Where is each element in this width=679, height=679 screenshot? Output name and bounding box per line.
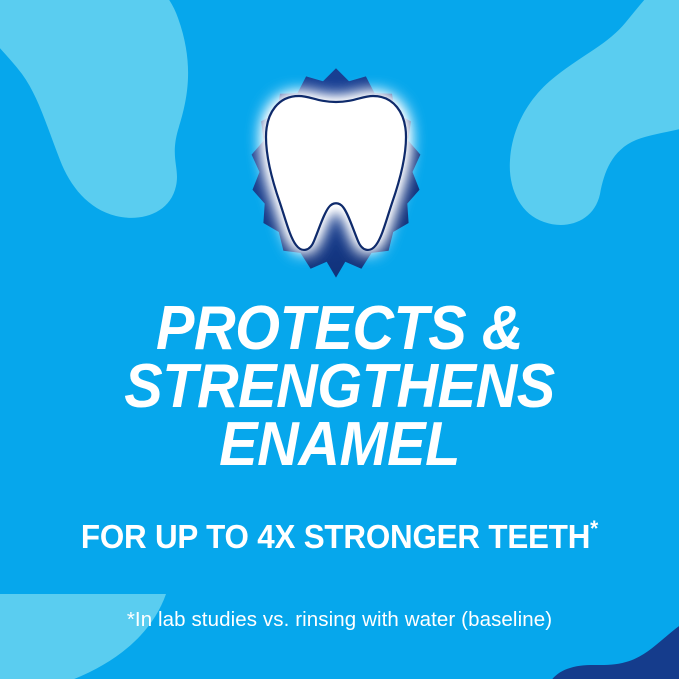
footnote-disclaimer: *In lab studies vs. rinsing with water (… [0, 608, 679, 633]
headline-line-3: ENAMEL [24, 416, 655, 474]
blob-bottom-left [0, 594, 166, 679]
headline-line-1: PROTECTS & [24, 300, 655, 358]
subheadline: FOR UP TO 4X STRONGER TEETH* [17, 520, 662, 553]
tooth-badge-graphic [212, 55, 460, 295]
tooth-badge [212, 55, 460, 295]
blob-top-left [0, 0, 188, 218]
headline-block: PROTECTS & STRENGTHENS ENAMEL [0, 300, 679, 474]
poster-canvas: PROTECTS & STRENGTHENS ENAMEL FOR UP TO … [0, 0, 679, 679]
subheadline-text: FOR UP TO 4X STRONGER TEETH [81, 518, 590, 555]
subheadline-asterisk: * [590, 516, 598, 541]
headline-line-2: STRENGTHENS [24, 358, 655, 416]
blob-top-right [510, 0, 679, 225]
